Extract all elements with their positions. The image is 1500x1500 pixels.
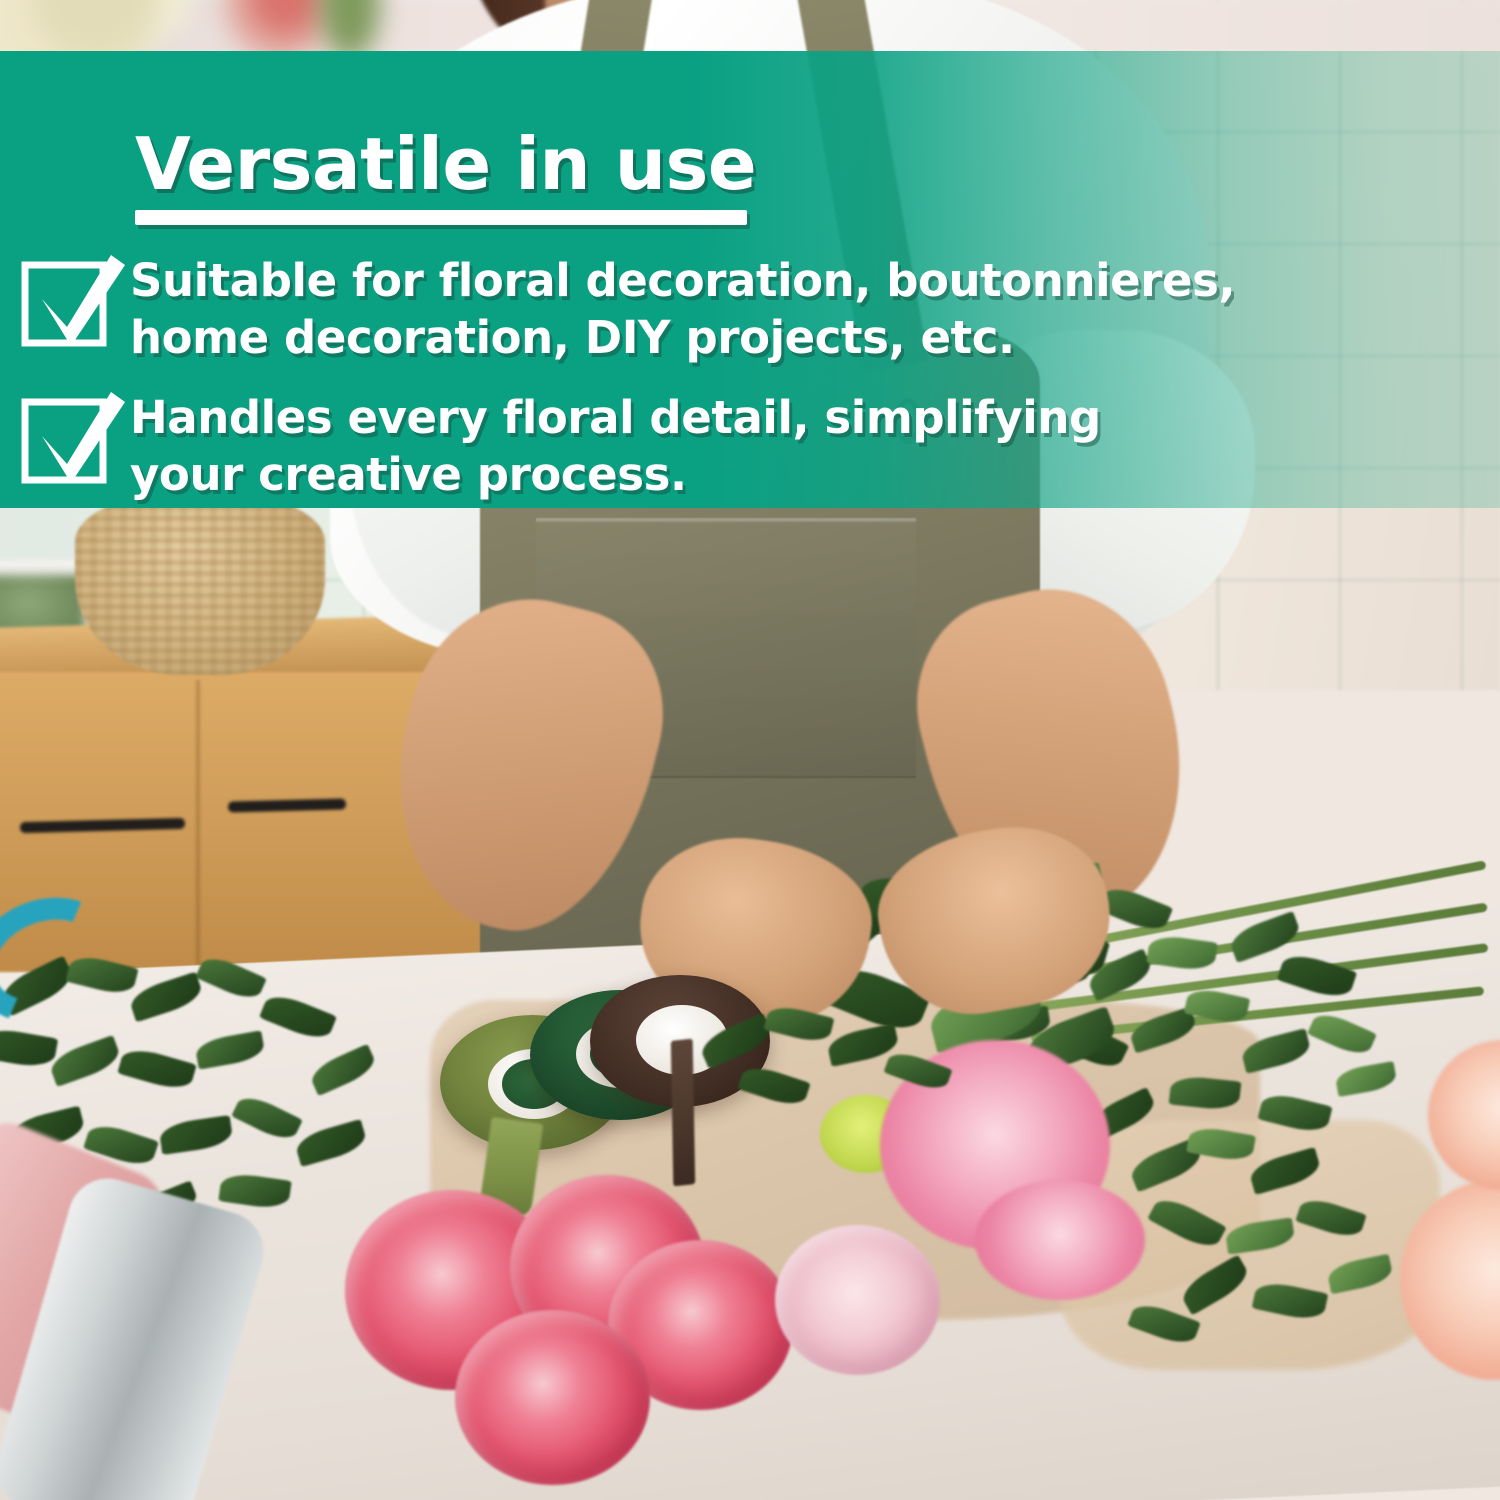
list-item: Suitable for floral decoration, boutonni…: [0, 247, 1500, 366]
product-infographic: Versatile in use Suitable for floral dec…: [0, 0, 1500, 1500]
page-title: Versatile in use: [135, 128, 756, 204]
pink-rose-4: [455, 1310, 650, 1485]
pink-carnation-2: [975, 1180, 1145, 1300]
list-item-line2: your creative process.: [130, 447, 1101, 504]
list-item-line1: Handles every floral detail, simplifying: [130, 391, 1101, 444]
checkbox-checked-icon: [12, 384, 130, 488]
list-item-label: Handles every floral detail, simplifying…: [130, 384, 1101, 503]
feature-list: Suitable for floral decoration, boutonni…: [0, 247, 1500, 522]
list-item-label: Suitable for floral decoration, boutonni…: [130, 247, 1235, 366]
cabinet-seam: [196, 680, 200, 970]
checkbox-checked-icon: [12, 247, 130, 351]
banner-title-wrap: Versatile in use: [135, 128, 756, 204]
title-underline: [135, 210, 747, 225]
pale-pink-rose: [775, 1225, 940, 1375]
list-item-line2: home decoration, DIY projects, etc.: [130, 310, 1235, 367]
foliage-center: [700, 1010, 960, 1140]
feature-banner: Versatile in use Suitable for floral dec…: [0, 51, 1500, 508]
list-item-line1: Suitable for floral decoration, boutonni…: [130, 254, 1235, 307]
list-item: Handles every floral detail, simplifying…: [0, 384, 1500, 503]
